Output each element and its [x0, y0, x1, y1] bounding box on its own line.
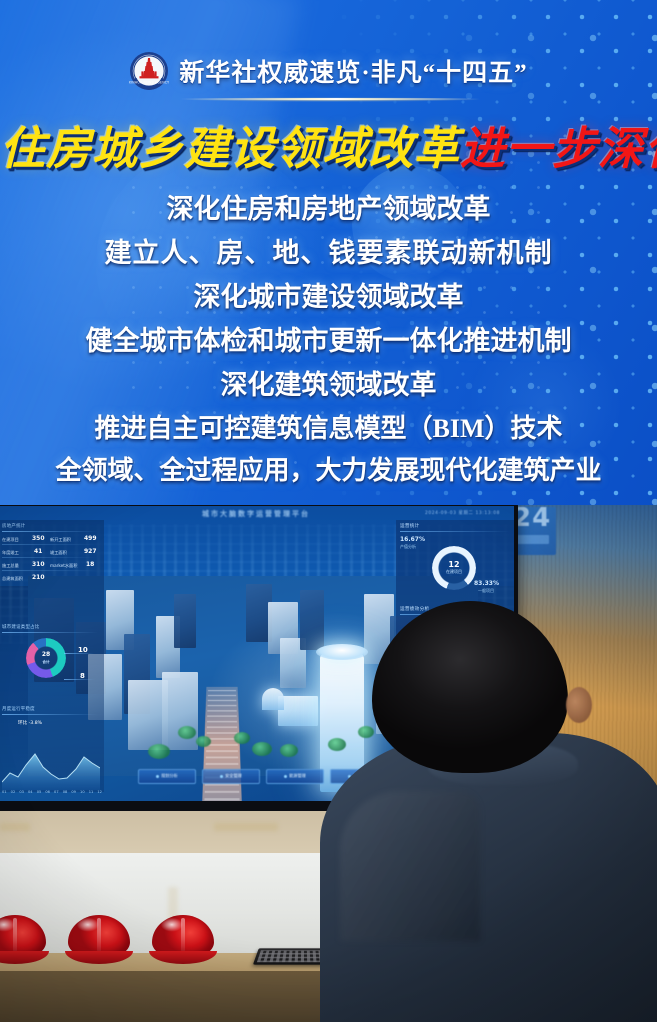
side-monitor-bar: [513, 535, 549, 544]
stat-label: market水面积: [50, 563, 77, 569]
divider: [2, 531, 98, 532]
axis-tick: 04: [28, 790, 33, 794]
divider: [2, 714, 98, 715]
trend-title: 月度运行平稳度: [2, 706, 35, 712]
person-ear: [566, 687, 592, 723]
stat-value: 499: [84, 535, 97, 542]
hard-hat-brim: [0, 951, 49, 964]
axis-tick: 06: [45, 790, 50, 794]
hard-hat-brim: [65, 951, 133, 964]
body-line: 深化住房和房地产领域改革: [0, 196, 657, 223]
xinhua-emblem-icon: XINHUA NEWS AGENCY: [129, 51, 169, 91]
callout-line: [64, 653, 94, 654]
body-line: 深化城市建设领域改革: [0, 284, 657, 311]
trend-value: 环比 -3.8%: [18, 720, 42, 726]
building-block: [162, 672, 198, 750]
tree-cluster: [196, 736, 211, 747]
pct-large-value: 83.33%: [474, 580, 499, 587]
wall-smudge: [214, 823, 278, 831]
nav-dot-icon: [156, 775, 159, 778]
hard-hat: [0, 915, 46, 965]
nav-dot-icon: [220, 775, 223, 778]
axis-tick: 01: [2, 790, 7, 794]
stat-label: 新开工面积: [50, 537, 71, 543]
hard-hat-rib: [181, 918, 185, 952]
nav-dot-icon: [284, 775, 287, 778]
stat-value: 350: [32, 535, 45, 542]
person-head: [372, 601, 568, 773]
masthead: XINHUA NEWS AGENCY 新华社权威速览·非凡“十四五”: [0, 40, 657, 102]
donut-center-label: 在建项目: [436, 569, 472, 575]
axis-tick: 10: [80, 790, 85, 794]
axis-tick: 02: [11, 790, 16, 794]
body-line: 建立人、房、地、钱要素联动新机制: [0, 240, 657, 267]
hard-hat-rib: [13, 918, 17, 952]
stat-label: 施工总量: [2, 563, 19, 569]
body-line: 健全城市体检和城市更新一体化推进机制: [0, 328, 657, 355]
divider: [2, 557, 98, 558]
hard-hat-brim: [149, 951, 217, 964]
poster-top-section: XINHUA NEWS AGENCY 新华社权威速览·非凡“十四五” 住房城乡建…: [0, 0, 657, 512]
callout-line: [64, 679, 94, 680]
left-donut-title: 城市建设类型占比: [2, 624, 40, 630]
nav-button-label: 规划分析: [161, 773, 178, 779]
hard-hat: [68, 915, 130, 965]
body-text-block: 深化住房和房地产领域改革 建立人、房、地、钱要素联动新机制 深化城市建设领域改革…: [0, 196, 657, 484]
tree-cluster: [178, 726, 196, 739]
stat-label: 年度竣工: [2, 550, 19, 556]
body-line: 全领域、全过程应用，大力发展现代化建筑产业: [0, 458, 657, 484]
poster-image: XINHUA NEWS AGENCY 新华社权威速览·非凡“十四五” 住房城乡建…: [0, 0, 657, 1022]
pct-large-label: 一般项目: [478, 588, 494, 594]
photograph-section: 24: [0, 505, 657, 1022]
trend-axis-ticks: 010203040506070809101112: [2, 790, 102, 794]
nav-button-safety[interactable]: 安全管理: [202, 769, 260, 784]
wall-smudge: [0, 823, 30, 831]
stat-value: 927: [84, 548, 97, 555]
stat-label: 竣工面积: [50, 550, 67, 556]
building-block: [174, 594, 196, 648]
svg-text:XINHUA NEWS AGENCY: XINHUA NEWS AGENCY: [129, 81, 169, 85]
stat-label: 总建筑面积: [2, 576, 23, 582]
city-type-donut-center: 28 合计: [34, 651, 58, 666]
stat-value: 210: [32, 574, 45, 581]
side-monitor-value: 24: [513, 507, 551, 533]
body-line: 推进自主可控建筑信息模型（BIM）技术: [0, 416, 657, 442]
axis-tick: 11: [89, 790, 94, 794]
building-dome: [262, 688, 284, 710]
masthead-title: 新华社权威速览·非凡“十四五”: [179, 53, 527, 89]
nav-button-planning[interactable]: 规划分析: [138, 769, 196, 784]
axis-tick: 09: [71, 790, 76, 794]
hard-hat: [152, 915, 214, 965]
axis-tick: 08: [63, 790, 68, 794]
building-block: [300, 590, 324, 650]
nav-button-energy[interactable]: 能源管理: [266, 769, 324, 784]
left-panel-title: 房地产统计: [2, 523, 25, 529]
page-title-part1: 住房城乡建设领域改革: [0, 124, 460, 174]
page-title-part2: 进一步深化: [460, 124, 657, 174]
tree-cluster: [148, 744, 170, 759]
donut-center-value: 28: [42, 651, 50, 658]
nav-button-label: 能源管理: [289, 773, 306, 779]
tree-cluster: [234, 732, 250, 744]
stat-label: 在建项目: [2, 537, 19, 543]
stat-value: 18: [86, 561, 94, 568]
hard-hat-rib: [97, 918, 101, 952]
jacket-fold-shadow: [340, 791, 480, 941]
body-line: 深化建筑领域改革: [0, 372, 657, 399]
tree-cluster: [252, 742, 272, 756]
right-panel-section1-title: 运营统计: [400, 523, 420, 529]
nav-button-label: 安全管理: [225, 773, 242, 779]
donut-center-value: 12: [440, 560, 468, 569]
building-podium: [278, 696, 318, 726]
page-title: 住房城乡建设领域改革进一步深化: [0, 122, 657, 176]
divider: [2, 570, 98, 571]
axis-tick: 03: [19, 790, 24, 794]
monthly-trend-area-chart: [2, 732, 100, 790]
divider: [2, 544, 98, 545]
divider: [2, 632, 98, 633]
axis-tick: 07: [54, 790, 59, 794]
person-viewing-screen: [330, 601, 657, 1022]
donut-center-label: 合计: [42, 660, 49, 664]
pct-small-label: 产值分析: [400, 544, 416, 550]
tree-cluster: [280, 744, 298, 757]
dashboard-timestamp: 2024-09-03 星期二 13:13:08: [425, 510, 500, 516]
dashboard-left-panel: 房地产统计 在建项目 350 新开工面积 499 年度竣工 41 竣工面积 92…: [0, 520, 104, 792]
stat-value: 41: [34, 548, 42, 555]
axis-tick: 12: [97, 790, 102, 794]
axis-tick: 05: [37, 790, 42, 794]
pct-small-value: 16.67%: [400, 536, 425, 543]
stat-value: 310: [32, 561, 45, 568]
divider: [400, 531, 510, 532]
